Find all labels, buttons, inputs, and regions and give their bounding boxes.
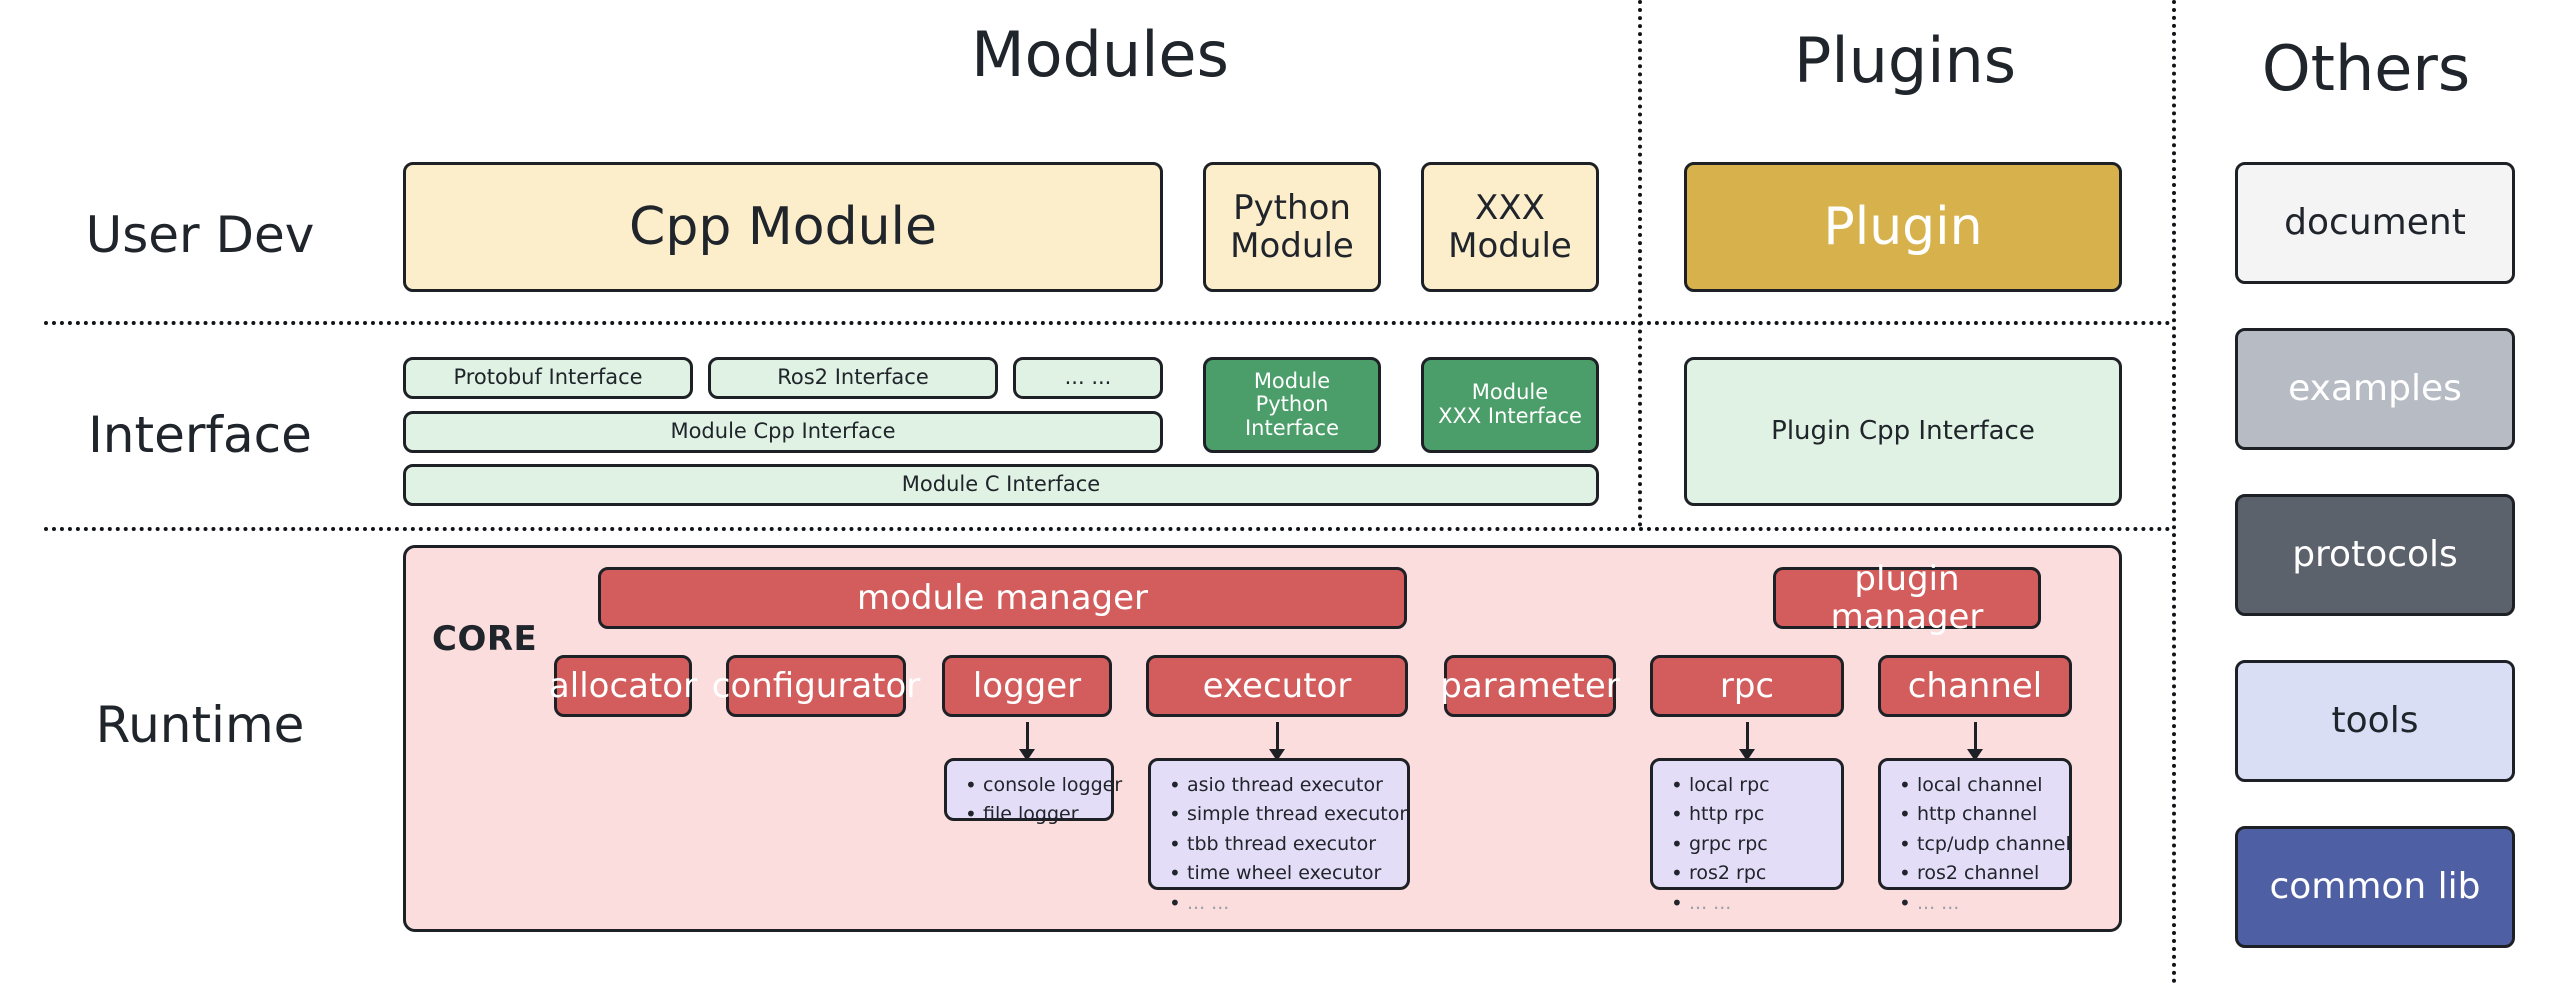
list-item: grpc rpc	[1689, 830, 1831, 859]
column-header-modules: Modules	[560, 0, 1640, 108]
core-label: CORE	[432, 617, 552, 661]
list-item: time wheel executor	[1187, 859, 1397, 888]
channel-details-list: local channel http channel tcp/udp chann…	[1895, 771, 2059, 918]
list-item: local channel	[1917, 771, 2059, 800]
arrow-channel	[1974, 722, 1977, 750]
core-component-channel[interactable]: channel	[1878, 655, 2072, 717]
executor-details-box: asio thread executor simple thread execu…	[1148, 758, 1410, 890]
others-item-common-lib[interactable]: common lib	[2235, 826, 2515, 948]
module-xxx-interface-box[interactable]: Module XXX Interface	[1421, 357, 1599, 453]
column-header-plugins: Plugins	[1640, 6, 2170, 114]
arrow-logger	[1026, 722, 1029, 750]
xxx-module-box[interactable]: XXX Module	[1421, 162, 1599, 292]
others-item-examples[interactable]: examples	[2235, 328, 2515, 450]
list-item: tbb thread executor	[1187, 830, 1397, 859]
core-component-rpc[interactable]: rpc	[1650, 655, 1844, 717]
row-label-interface: Interface	[30, 390, 370, 480]
divider-modules-plugins	[1638, 0, 1642, 527]
ros2-interface-box[interactable]: Ros2 Interface	[708, 357, 998, 399]
core-component-executor[interactable]: executor	[1146, 655, 1408, 717]
divider-interface-runtime	[44, 527, 2172, 531]
row-label-user-dev: User Dev	[30, 190, 370, 280]
arrow-rpc	[1746, 722, 1749, 750]
divider-userdev-interface	[44, 321, 2172, 325]
list-item: file logger	[983, 800, 1101, 829]
module-manager-box[interactable]: module manager	[598, 567, 1407, 629]
row-label-runtime: Runtime	[30, 680, 370, 770]
python-module-box[interactable]: Python Module	[1203, 162, 1381, 292]
list-item: console logger	[983, 771, 1101, 800]
list-item: ... ...	[1917, 889, 2059, 918]
rpc-details-list: local rpc http rpc grpc rpc ros2 rpc ...…	[1667, 771, 1831, 918]
list-item: http rpc	[1689, 800, 1831, 829]
others-item-tools[interactable]: tools	[2235, 660, 2515, 782]
more-interface-box[interactable]: ... ...	[1013, 357, 1163, 399]
core-component-configurator[interactable]: configurator	[726, 655, 906, 717]
executor-details-list: asio thread executor simple thread execu…	[1165, 771, 1397, 918]
list-item: http channel	[1917, 800, 2059, 829]
others-item-protocols[interactable]: protocols	[2235, 494, 2515, 616]
logger-details-box: console logger file logger	[944, 758, 1114, 821]
core-component-parameter[interactable]: parameter	[1444, 655, 1616, 717]
others-item-document[interactable]: document	[2235, 162, 2515, 284]
rpc-details-box: local rpc http rpc grpc rpc ros2 rpc ...…	[1650, 758, 1844, 890]
list-item: ... ...	[1689, 889, 1831, 918]
divider-plugins-others	[2172, 0, 2176, 984]
plugin-manager-box[interactable]: plugin manager	[1773, 567, 2041, 629]
core-component-allocator[interactable]: allocator	[554, 655, 692, 717]
column-header-others: Others	[2172, 14, 2560, 122]
list-item: ros2 rpc	[1689, 859, 1831, 888]
architecture-diagram: Modules Plugins Others User Dev Interfac…	[0, 0, 2560, 984]
plugin-cpp-interface-box[interactable]: Plugin Cpp Interface	[1684, 357, 2122, 506]
logger-details-list: console logger file logger	[961, 771, 1101, 830]
list-item: ... ...	[1187, 889, 1397, 918]
protobuf-interface-box[interactable]: Protobuf Interface	[403, 357, 693, 399]
list-item: asio thread executor	[1187, 771, 1397, 800]
cpp-module-box[interactable]: Cpp Module	[403, 162, 1163, 292]
list-item: local rpc	[1689, 771, 1831, 800]
arrow-executor	[1276, 722, 1279, 750]
module-cpp-interface-box[interactable]: Module Cpp Interface	[403, 411, 1163, 453]
module-c-interface-box[interactable]: Module C Interface	[403, 464, 1599, 506]
module-python-interface-box[interactable]: Module Python Interface	[1203, 357, 1381, 453]
plugin-box[interactable]: Plugin	[1684, 162, 2122, 292]
list-item: ros2 channel	[1917, 859, 2059, 888]
list-item: simple thread executor	[1187, 800, 1397, 829]
core-component-logger[interactable]: logger	[942, 655, 1112, 717]
channel-details-box: local channel http channel tcp/udp chann…	[1878, 758, 2072, 890]
list-item: tcp/udp channel	[1917, 830, 2059, 859]
